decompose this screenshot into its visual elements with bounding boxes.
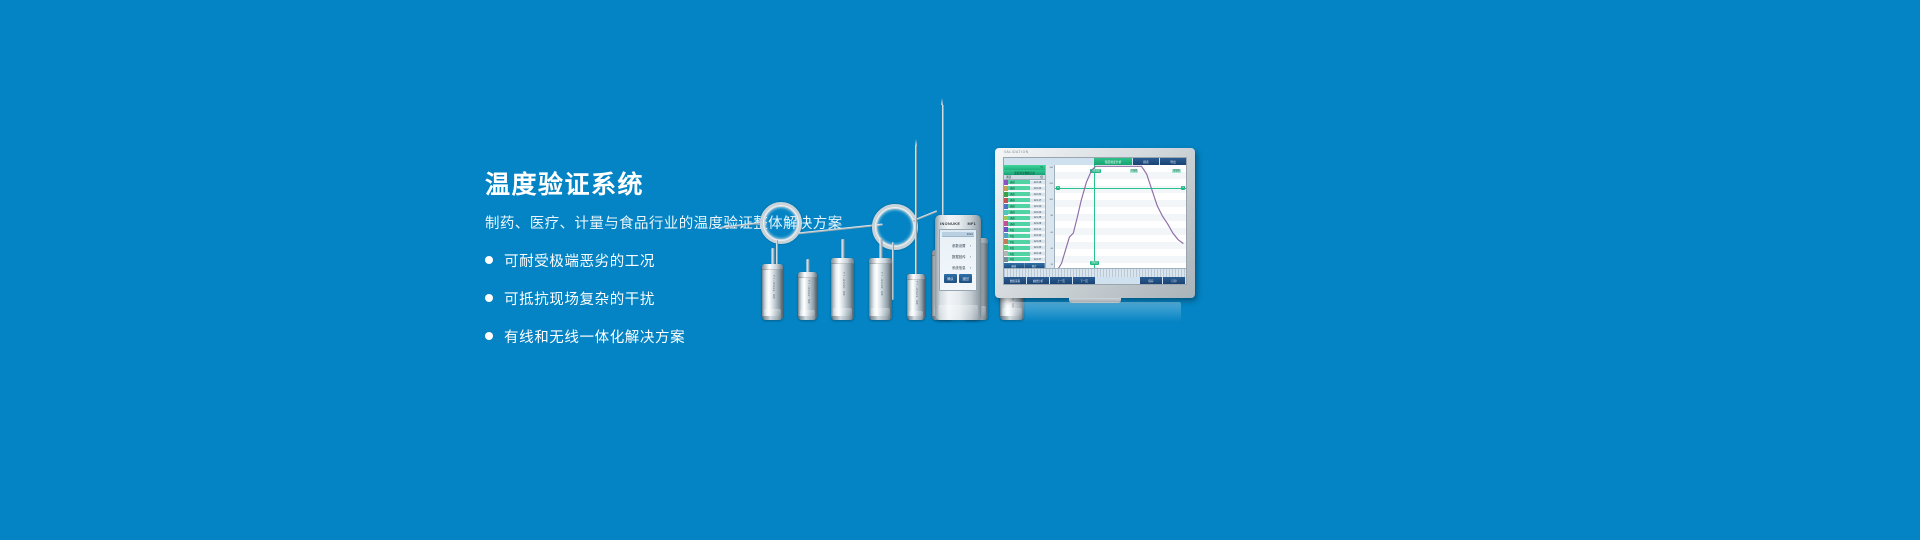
cell-value: 121.19 bbox=[1030, 252, 1045, 255]
cell-value: 121.24 bbox=[1030, 187, 1045, 190]
channel-table[interactable]: ℃ 温度验证数据记录 通道 值 通道121.18 通道121.24 通道121.… bbox=[1004, 165, 1046, 268]
probe-coil-icon bbox=[760, 202, 802, 244]
cell-channel: 通道 bbox=[1008, 186, 1030, 190]
cell-value: 121.37 bbox=[1030, 258, 1045, 261]
cell-channel: 通道 bbox=[1008, 216, 1030, 220]
handheld-status: 2021 bbox=[967, 232, 973, 236]
chevron-right-icon: › bbox=[970, 244, 971, 248]
menu-item[interactable]: 数据回传 › bbox=[942, 254, 974, 259]
cell-value: 121.40 bbox=[1030, 205, 1045, 208]
cell-value: 121.44 bbox=[1030, 234, 1045, 237]
cell-value: 121.22 bbox=[1030, 211, 1045, 214]
col-header-value: 值 bbox=[1040, 175, 1043, 179]
handheld-brand: INONUKE bbox=[940, 222, 960, 226]
handheld-reader[interactable]: INONUKE MF1 2021 参数设置 › 数据回传 › bbox=[935, 215, 981, 320]
data-logger-body: FT-0312 SN bbox=[798, 272, 817, 320]
probe-stem bbox=[841, 239, 844, 258]
cell-value: 121.17 bbox=[1030, 199, 1045, 202]
menu-item[interactable]: 系统信息 › bbox=[942, 265, 974, 270]
button-next-page[interactable]: 下一页 bbox=[1073, 277, 1095, 284]
data-logger-body: FT-0315 SN bbox=[831, 258, 854, 320]
list-item: FT-0312 SN bbox=[798, 272, 817, 320]
menu-item-label: 参数设置 bbox=[952, 243, 966, 248]
bullet-dot-icon bbox=[485, 332, 493, 340]
button-prev-page[interactable]: 上一页 bbox=[1050, 277, 1072, 284]
handheld-model: MF1 bbox=[968, 222, 977, 226]
cell-channel: F值 bbox=[1008, 252, 1030, 256]
product-stage: FT-0311 SN FT-0312 SN FT-0315 SN FT-0316… bbox=[720, 120, 1240, 320]
bullet-label: 可耐受极端恶劣的工况 bbox=[504, 250, 655, 271]
cell-value: 121.35 bbox=[1030, 216, 1045, 219]
reflection bbox=[1009, 302, 1181, 322]
button-print[interactable]: 打印 bbox=[1163, 277, 1185, 284]
back-button[interactable]: 返回 bbox=[959, 274, 972, 283]
probe-stem bbox=[879, 238, 882, 258]
cell-channel: 通道 bbox=[1008, 210, 1030, 214]
bullet-label: 可抵抗现场复杂的干扰 bbox=[504, 288, 655, 309]
table-rows: 通道121.18 通道121.24 通道121.31 通道121.17 通道12… bbox=[1004, 180, 1045, 263]
list-item: FT-0315 SN bbox=[831, 258, 854, 320]
tab-analysis[interactable]: 温度验证分析 bbox=[1094, 158, 1132, 165]
chevron-right-icon: › bbox=[970, 266, 971, 270]
button-collect[interactable]: 数据采集 bbox=[1004, 277, 1026, 284]
y-axis: 140 120 100 80 60 40 20 bbox=[1046, 165, 1055, 268]
monitor-screen[interactable]: 温度验证分析 报表 导出 ℃ 温度验证数据记录 通道 值 bbox=[1003, 157, 1187, 285]
temperature-chart[interactable]: 140 120 100 80 60 40 20 bbox=[1046, 165, 1186, 268]
handheld-button-bar: 确认 返回 bbox=[944, 274, 972, 283]
probe-stem bbox=[806, 259, 809, 272]
logger-label: FT-0316 SN bbox=[879, 272, 883, 295]
needle-probe-icon bbox=[915, 146, 917, 274]
cell-channel: 通道 bbox=[1008, 192, 1030, 196]
button-save[interactable]: 保存 bbox=[1140, 277, 1162, 284]
bullet-dot-icon bbox=[485, 256, 493, 264]
bullet-label: 有线和无线一体化解决方案 bbox=[504, 326, 685, 347]
logger-label: FT-0311 SN bbox=[771, 276, 775, 299]
cell-channel: F值 bbox=[1008, 240, 1030, 244]
cell-channel: 通道 bbox=[1008, 222, 1030, 226]
button-analyze[interactable]: 曲线分析 bbox=[1027, 277, 1049, 284]
logger-label: FT-0321 SN bbox=[914, 282, 918, 305]
cell-channel: 通道 bbox=[1008, 180, 1030, 184]
cell-channel: F值 bbox=[1008, 234, 1030, 238]
y-tick: 20 bbox=[1051, 264, 1054, 266]
probe-wire bbox=[798, 224, 883, 235]
col-header-channel: 通道 bbox=[1006, 175, 1011, 179]
chart-scrollbar[interactable] bbox=[1004, 268, 1186, 277]
software-toolbar: 温度验证分析 报表 导出 bbox=[1004, 158, 1186, 165]
validation-monitor[interactable]: VALIDATION 温度验证分析 报表 导出 ℃ 温度验证数据记录 bbox=[995, 148, 1195, 298]
monitor-bezel: VALIDATION 温度验证分析 报表 导出 ℃ 温度验证数据记录 bbox=[995, 148, 1195, 298]
list-item: 有线和无线一体化解决方案 bbox=[485, 326, 905, 347]
confirm-button[interactable]: 确认 bbox=[944, 274, 957, 283]
bullet-dot-icon bbox=[485, 294, 493, 302]
monitor-stand bbox=[1069, 298, 1121, 303]
logger-label: FT-0312 SN bbox=[806, 281, 810, 304]
data-logger-body: FT-0316 SN bbox=[869, 258, 892, 320]
probe-stem bbox=[771, 248, 774, 264]
menu-item-label: 数据回传 bbox=[952, 254, 966, 259]
y-tick: 80 bbox=[1051, 215, 1054, 217]
y-tick: 120 bbox=[1049, 183, 1054, 185]
cell-channel: F值 bbox=[1008, 246, 1030, 250]
y-tick: 100 bbox=[1049, 199, 1054, 201]
tab-report[interactable]: 报表 bbox=[1133, 158, 1159, 165]
cell-value: 121.31 bbox=[1030, 193, 1045, 196]
tab-export[interactable]: 导出 bbox=[1160, 158, 1186, 165]
list-item: FT-0311 SN bbox=[762, 264, 783, 320]
software-bottom-toolbar: 数据采集 曲线分析 上一页 下一页 保存 打印 bbox=[1004, 277, 1186, 284]
temperature-curve bbox=[1055, 165, 1186, 268]
cell-value: 121.26 bbox=[1030, 240, 1045, 243]
chevron-right-icon: › bbox=[970, 255, 971, 259]
cell-value: 121.11 bbox=[1030, 228, 1045, 231]
hero-banner: 温度验证系统 制药、医疗、计量与食品行业的温度验证整体解决方案 可耐受极端恶劣的… bbox=[0, 0, 1920, 540]
data-logger-body: FT-0321 SN bbox=[907, 274, 925, 320]
cell-channel: F值 bbox=[1008, 228, 1030, 232]
y-tick: 40 bbox=[1051, 248, 1054, 250]
list-item: FT-0316 SN bbox=[869, 258, 892, 320]
software-body: ℃ 温度验证数据记录 通道 值 通道121.18 通道121.24 通道121.… bbox=[1004, 165, 1186, 268]
logger-label: FT-0315 SN bbox=[841, 272, 845, 295]
handheld-brand-row: INONUKE MF1 bbox=[939, 219, 977, 228]
plot-area[interactable]: 灭菌温度 起始点 A B 升温段 保温段 bbox=[1055, 165, 1186, 268]
y-tick: 60 bbox=[1051, 232, 1054, 234]
handheld-statusbar: 2021 bbox=[942, 232, 974, 237]
cell-value: 121.33 bbox=[1030, 246, 1045, 249]
cell-channel: 通道 bbox=[1008, 198, 1030, 202]
menu-item-label: 系统信息 bbox=[952, 265, 966, 270]
toolbar-spacer bbox=[1004, 158, 1094, 165]
monitor-brand: VALIDATION bbox=[1004, 150, 1029, 154]
list-item: FT-0321 SN bbox=[907, 274, 925, 320]
toolbar-spacer bbox=[1096, 277, 1140, 284]
cell-channel: 通道 bbox=[1008, 204, 1030, 208]
cell-channel: F值 bbox=[1008, 257, 1030, 261]
menu-item[interactable]: 参数设置 › bbox=[942, 243, 974, 248]
handheld-shell: INONUKE MF1 2021 参数设置 › 数据回传 › bbox=[935, 215, 981, 320]
data-logger-body: FT-0311 SN bbox=[762, 264, 783, 320]
probe-lead bbox=[892, 242, 894, 300]
cell-value: 121.18 bbox=[1030, 181, 1045, 184]
y-tick: 140 bbox=[1049, 167, 1054, 169]
handheld-screen[interactable]: 2021 参数设置 › 数据回传 › 系统信息 › 确认 bbox=[939, 229, 977, 291]
cell-value: 121.29 bbox=[1030, 222, 1045, 225]
